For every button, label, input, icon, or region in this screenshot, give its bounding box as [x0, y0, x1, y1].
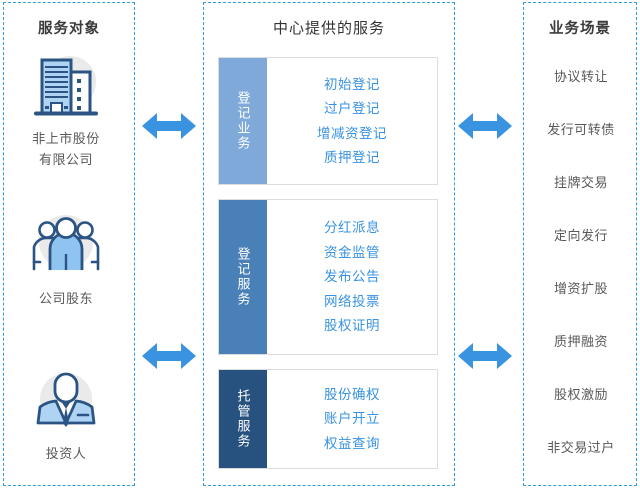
service-card-tab-label: 托管服务	[219, 370, 267, 468]
service-item[interactable]: 初始登记	[324, 72, 380, 97]
panel-center-title: 中心提供的服务	[204, 17, 454, 38]
service-item-list: 初始登记 过户登记 增减资登记 质押登记	[267, 58, 437, 184]
service-item[interactable]: 网络投票	[324, 289, 380, 314]
panel-left-title: 服务对象	[4, 17, 134, 38]
service-item[interactable]: 资金监管	[324, 240, 380, 265]
audience-item-investor: 投资人	[0, 365, 132, 464]
service-item-list: 分红派息 资金监管 发布公告 网络投票 股权证明	[267, 200, 437, 354]
investor-person-icon	[22, 365, 110, 437]
scenario-item[interactable]: 定向发行	[524, 225, 638, 244]
service-item-list: 股份确权 账户开立 权益查询	[267, 370, 437, 468]
arrow-center-to-scenario-top	[458, 110, 512, 142]
scenario-item[interactable]: 增资扩股	[524, 278, 638, 297]
scenario-item[interactable]: 挂牌交易	[524, 172, 638, 191]
arrow-audience-to-center-bottom	[142, 340, 196, 372]
diagram-canvas: 服务对象	[0, 0, 640, 490]
service-item[interactable]: 增减资登记	[317, 121, 387, 146]
shareholders-group-icon	[22, 210, 110, 282]
arrow-center-to-scenario-bottom	[458, 340, 512, 372]
scenario-item[interactable]: 股权激励	[524, 384, 638, 403]
service-item[interactable]: 质押登记	[324, 146, 380, 171]
service-card-registration-service: 登记服务 分红派息 资金监管 发布公告 网络投票 股权证明	[218, 199, 438, 355]
service-card-tab-label: 登记业务	[219, 58, 267, 184]
scenario-item[interactable]: 非交易过户	[524, 437, 638, 456]
audience-label-line1: 公司股东	[0, 288, 132, 309]
service-item[interactable]: 股份确权	[324, 382, 380, 407]
audience-label-line1: 非上市股份	[0, 128, 132, 149]
service-item[interactable]: 股权证明	[324, 314, 380, 339]
panel-business-scenarios: 业务场景 协议转让 发行可转债 挂牌交易 定向发行 增资扩股 质押融资 股权激励…	[523, 2, 637, 486]
audience-label-line2: 有限公司	[0, 149, 132, 170]
audience-item-company: 非上市股份 有限公司	[0, 50, 132, 170]
service-card-tab-label: 登记服务	[219, 200, 267, 354]
arrow-audience-to-center-top	[142, 110, 196, 142]
scenario-item[interactable]: 协议转让	[524, 66, 638, 85]
service-item[interactable]: 发布公告	[324, 265, 380, 290]
service-card-registration-business: 登记业务 初始登记 过户登记 增减资登记 质押登记	[218, 57, 438, 185]
service-item[interactable]: 过户登记	[324, 97, 380, 122]
office-building-icon	[22, 50, 110, 122]
scenario-item[interactable]: 发行可转债	[524, 119, 638, 138]
service-item[interactable]: 分红派息	[324, 216, 380, 241]
service-item[interactable]: 账户开立	[324, 407, 380, 432]
scenario-item[interactable]: 质押融资	[524, 331, 638, 350]
service-card-custody-service: 托管服务 股份确权 账户开立 权益查询	[218, 369, 438, 469]
service-item[interactable]: 权益查询	[324, 431, 380, 456]
panel-right-title: 业务场景	[524, 17, 636, 38]
audience-item-shareholders: 公司股东	[0, 210, 132, 309]
audience-label-line1: 投资人	[0, 443, 132, 464]
